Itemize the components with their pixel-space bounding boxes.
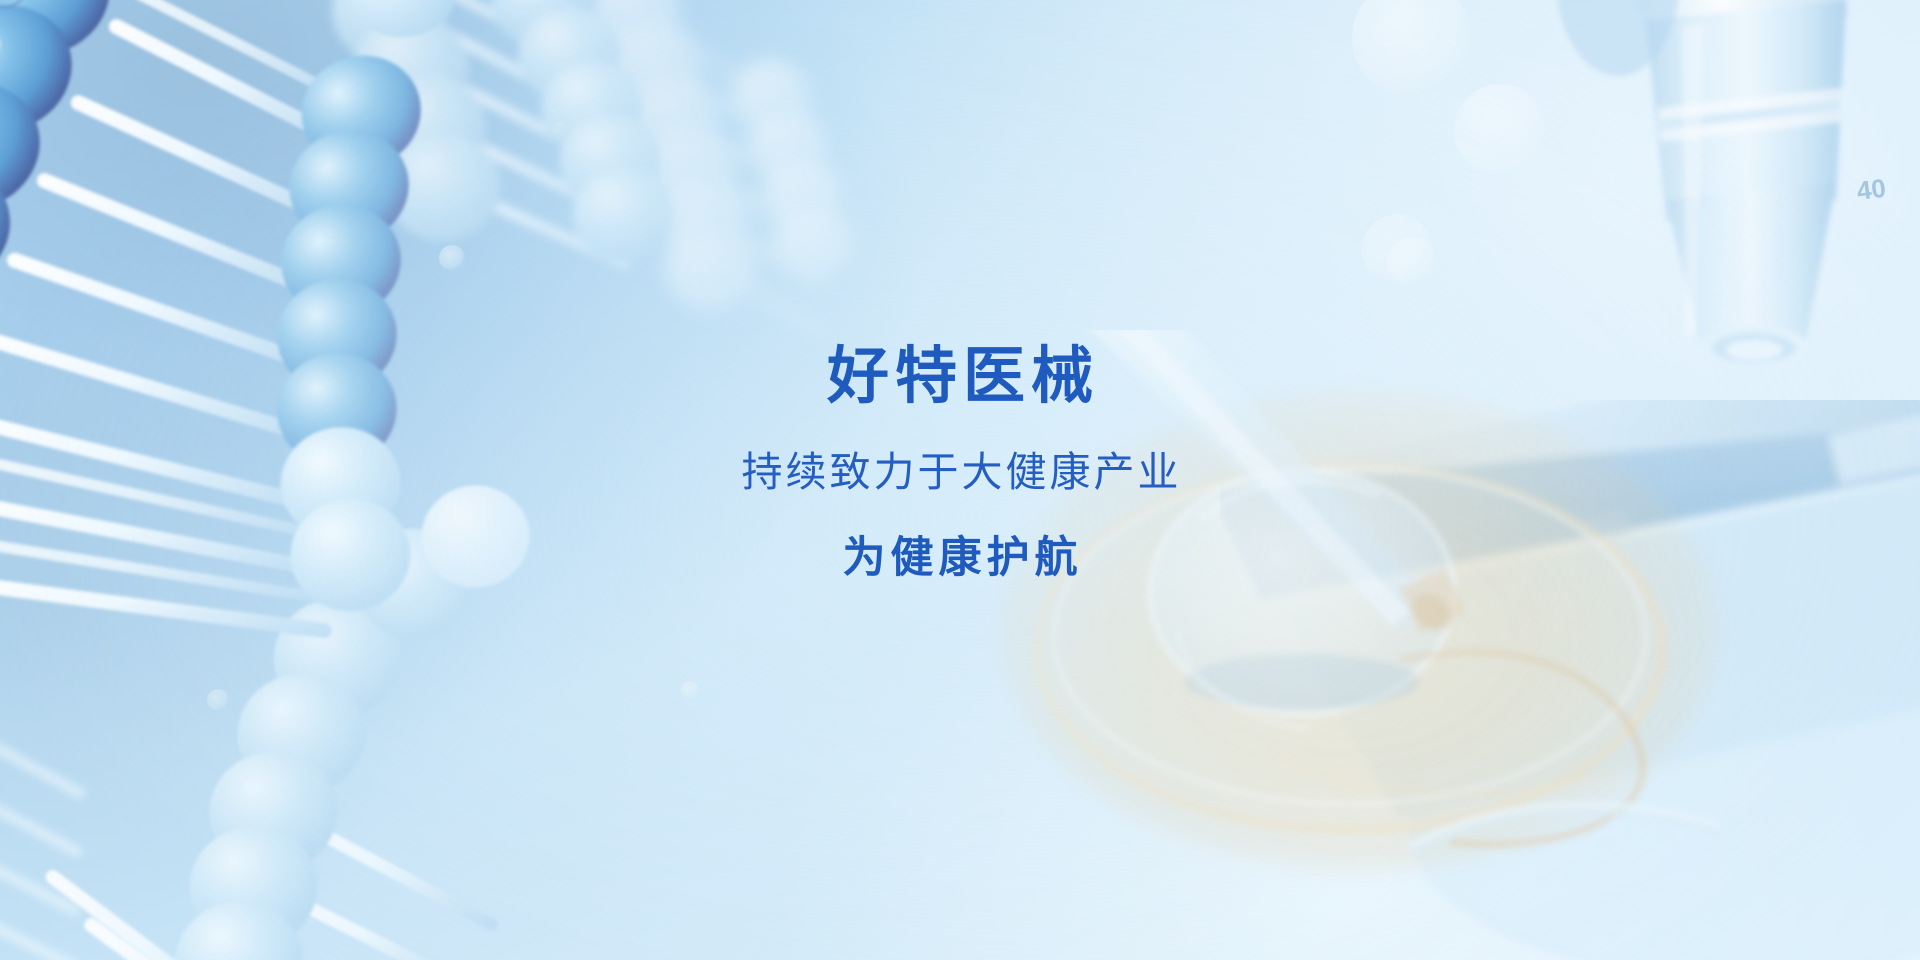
dna-helix-illustration — [0, 0, 1006, 960]
objective-magnification-label: 40 — [1855, 173, 1887, 206]
glass-petri-dish — [980, 330, 1760, 890]
hero-banner: 40 — [0, 0, 1920, 960]
